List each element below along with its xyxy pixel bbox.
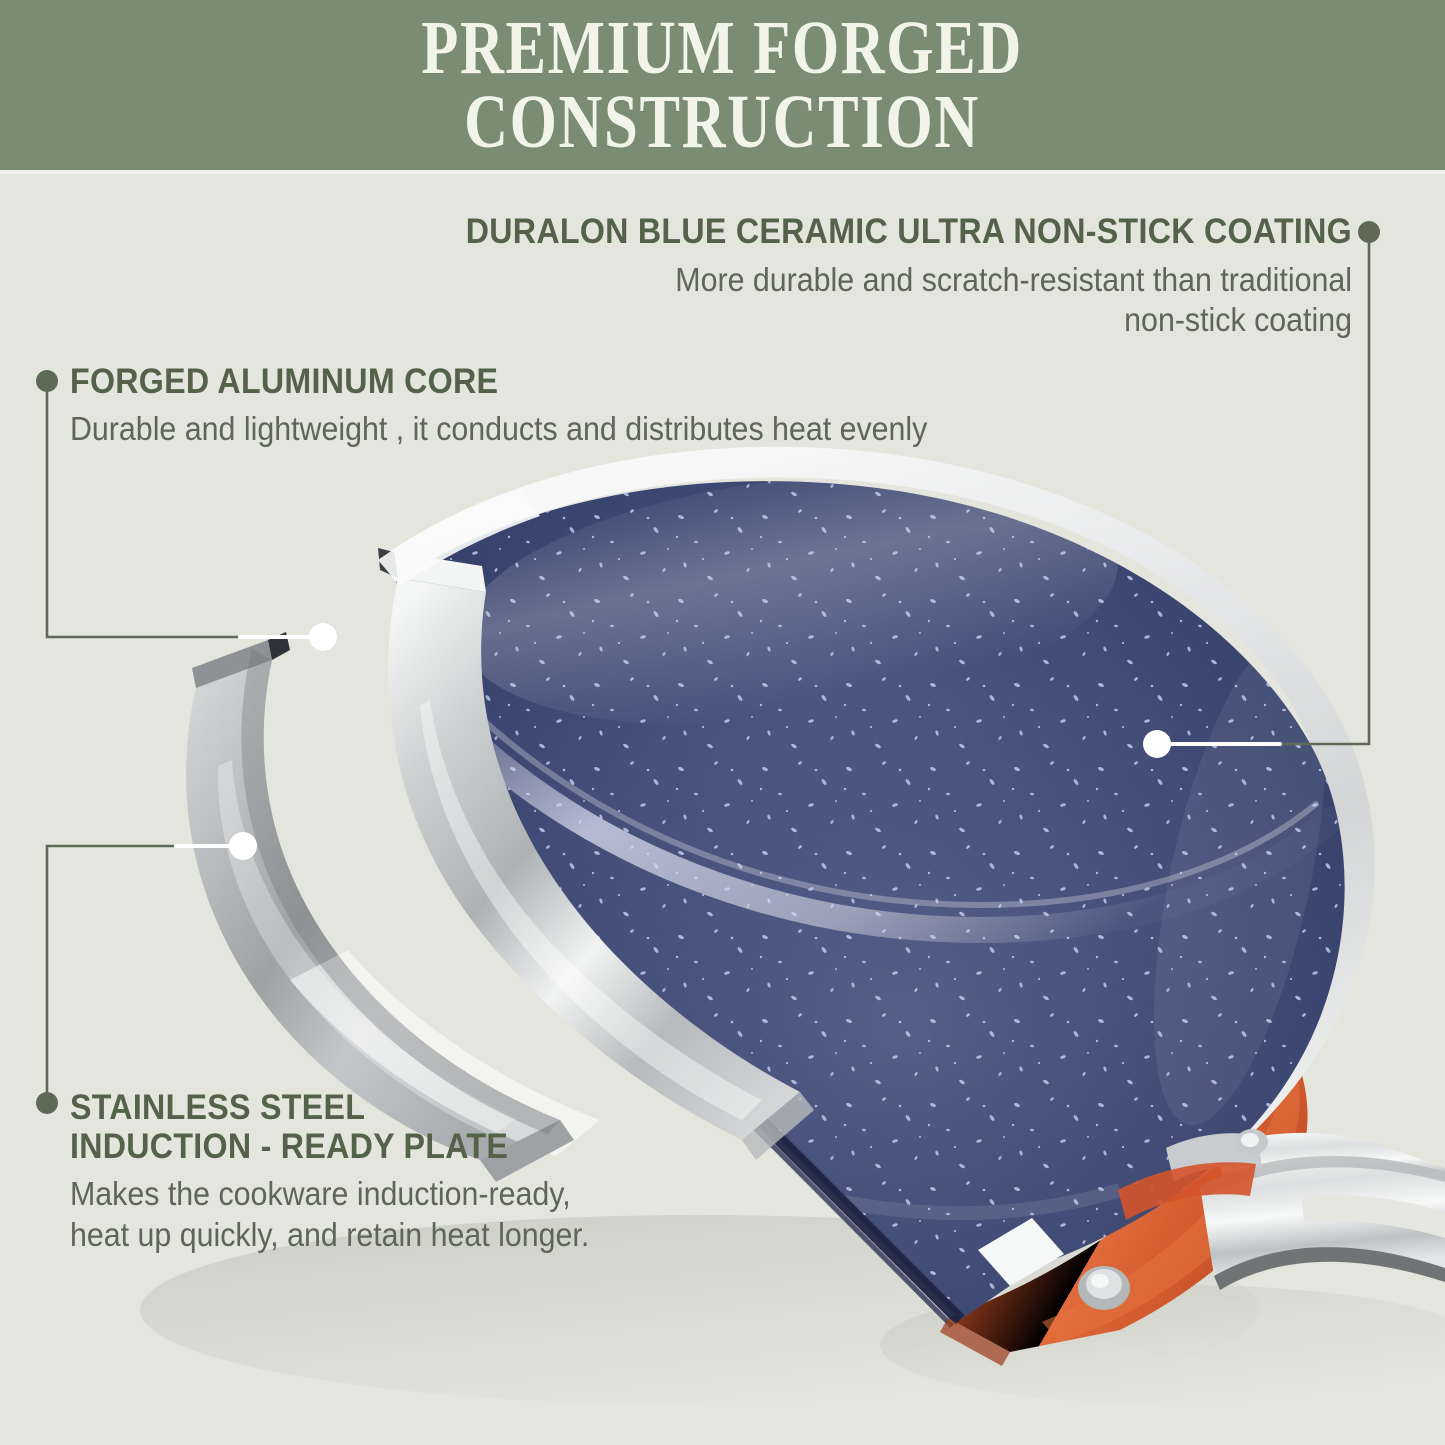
callout-forged-core-heading: FORGED ALUMINUM CORE: [70, 362, 1275, 401]
callout-stainless-plate: STAINLESS STEEL INDUCTION - READY PLATE …: [70, 1088, 890, 1255]
callout-forged-core-body: Durable and lightweight , it conducts an…: [70, 409, 1275, 449]
page-title: PREMIUM FORGED CONSTRUCTION: [422, 11, 1024, 160]
callout-duralon-body: More durable and scratch-resistant than …: [108, 260, 1352, 341]
callout-stainless-body: Makes the cookware induction-ready, heat…: [70, 1174, 824, 1255]
infographic-canvas: PREMIUM FORGED CONSTRUCTION DURALON BLUE…: [0, 0, 1445, 1445]
callout-forged-core: FORGED ALUMINUM CORE Durable and lightwe…: [70, 362, 1380, 449]
callout-duralon-coating: DURALON BLUE CERAMIC ULTRA NON-STICK COA…: [0, 212, 1352, 341]
header-banner: PREMIUM FORGED CONSTRUCTION: [0, 0, 1445, 170]
banner-divider: [0, 170, 1445, 174]
callout-duralon-heading: DURALON BLUE CERAMIC ULTRA NON-STICK COA…: [108, 212, 1352, 251]
callout-stainless-heading: STAINLESS STEEL INDUCTION - READY PLATE: [70, 1088, 824, 1166]
